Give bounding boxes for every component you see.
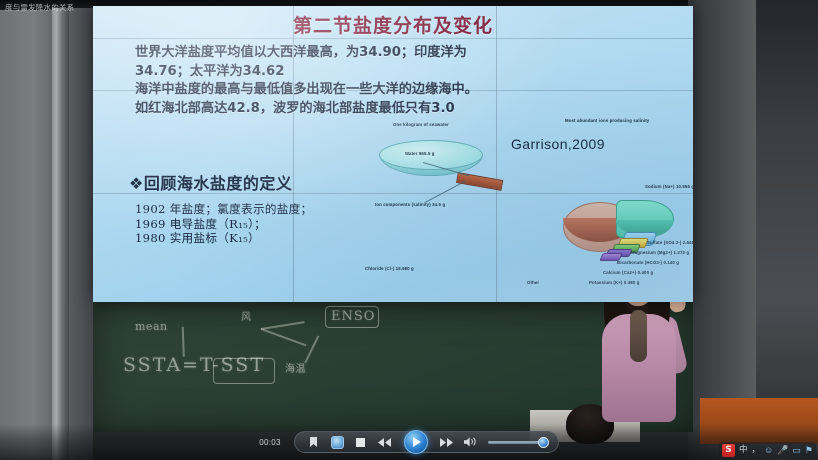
emoji-icon[interactable]: ☺ [764, 446, 773, 455]
video-header-title: 度与雷发降水的关系 [5, 2, 74, 13]
slide-body: 世界大洋盐度平均值以大西洋最高，为34.90；印度洋为 34.76；太平洋为34… [135, 44, 665, 118]
stop-icon[interactable] [354, 435, 368, 449]
blackboard-tick [182, 327, 185, 357]
pie-label-chloride: Chloride (Cl-) 18.980 g [365, 266, 414, 271]
play-button[interactable] [404, 430, 428, 454]
figure-beaker-title: One kilogram of seawater [393, 122, 449, 127]
pie-label-sulfate: Sulfate (SO4 2-) 2.649 g [647, 240, 693, 245]
blackboard-note-mean: mean [135, 320, 168, 333]
rewind-icon[interactable] [378, 435, 392, 449]
snapshot-icon[interactable] [331, 436, 344, 449]
wall-panel [69, 8, 93, 460]
mute-icon[interactable] [464, 435, 478, 449]
blackboard-arrow-2 [261, 321, 305, 329]
blackboard-arrow-1 [261, 328, 307, 346]
keyboard-icon[interactable]: ▭ [792, 446, 801, 455]
blackboard-formula-box [213, 358, 275, 384]
salinity-figure: One kilogram of seawater Water 965.5 g I… [365, 114, 691, 296]
slide-body-line-2: 34.76；太平洋为34.62 [135, 63, 665, 82]
teacher-scarf [630, 310, 647, 362]
blackboard-note-seatemp: 海温 [285, 360, 306, 375]
screen-seam-top [93, 38, 693, 39]
player-controls: 00:03 [259, 431, 559, 453]
pie-label-potassium: Potassium (K+) 0.380 g [589, 280, 639, 285]
pie-label-calcium: Calcium (Ca2+) 0.400 g [603, 270, 653, 275]
slide-body-line-1: 世界大洋盐度平均值以大西洋最高，为34.90；印度洋为 [135, 44, 665, 63]
slide-body-line-3: 海洋中盐度的最高与最低值多出现在一些大洋的边缘海中。 [135, 81, 665, 100]
projection-screen: 第二节盐度分布及变化 世界大洋盐度平均值以大西洋最高，为34.90；印度洋为 3… [93, 6, 693, 302]
definition-item-1980: 1980 实用盐标（K₁₅） [135, 231, 312, 246]
ime-punctuation-mode[interactable]: ， [751, 446, 760, 455]
player-control-bar[interactable]: 00:03 [0, 424, 818, 460]
ime-toolbar[interactable]: S 中 ， ☺ 🎤 ▭ ⚑ [719, 442, 816, 458]
toolbox-icon[interactable]: ⚑ [805, 446, 813, 455]
definition-item-1969: 1969 电导盐度（R₁₅）； [135, 217, 312, 232]
mic-icon[interactable]: 🎤 [777, 446, 788, 455]
volume-knob[interactable] [538, 437, 549, 448]
figure-ions-label: Ion components (salinity) 34.5 g [375, 202, 445, 207]
wall-pillar [52, 8, 69, 460]
sogou-logo-icon[interactable]: S [722, 444, 735, 457]
transport-controls [294, 431, 559, 453]
timecode: 00:03 [259, 438, 281, 447]
bookmark-icon[interactable] [307, 435, 321, 449]
blackboard-note-wind: 风 [241, 308, 252, 323]
blackboard-arrow-3 [304, 335, 318, 363]
video-player-screenshot: mean SSTA=T-SST ENSO 风 海温 第二节盐度分布及变化 世界 [0, 0, 818, 460]
blackboard-note-enso: ENSO [331, 309, 375, 324]
figure-water-label: Water 965.5 g [405, 151, 435, 156]
pie-label-magnesium: Magnesium (Mg2+) 1.272 g [631, 250, 689, 255]
forward-icon[interactable] [440, 435, 454, 449]
pie-label-bicarbonate: Bicarbonate (HCO3-) 0.140 g [617, 260, 679, 265]
ion-pie-chart: Chloride (Cl-) 18.980 g Other Sodium (Na… [561, 188, 691, 284]
salinity-definitions-list: 1902 年盐度；氯度表示的盐度； 1969 电导盐度（R₁₅）； 1980 实… [135, 202, 312, 246]
left-wall [0, 10, 60, 460]
right-door [756, 0, 818, 425]
volume-slider[interactable] [488, 441, 546, 444]
pie-label-sodium: Sodium (Na+) 10.556 g [645, 184, 693, 189]
pie-label-other: Other [527, 280, 539, 285]
slide-bullet: ❖回顾海水盐度的定义 [129, 170, 292, 194]
ime-language-mode[interactable]: 中 [739, 446, 748, 455]
slide-title: 第二节盐度分布及变化 [93, 11, 693, 38]
figure-pie-title: Most abundant ions producing salinity [565, 118, 649, 123]
figure-leader-2 [425, 180, 466, 202]
definition-item-1902: 1902 年盐度；氯度表示的盐度； [135, 202, 312, 217]
